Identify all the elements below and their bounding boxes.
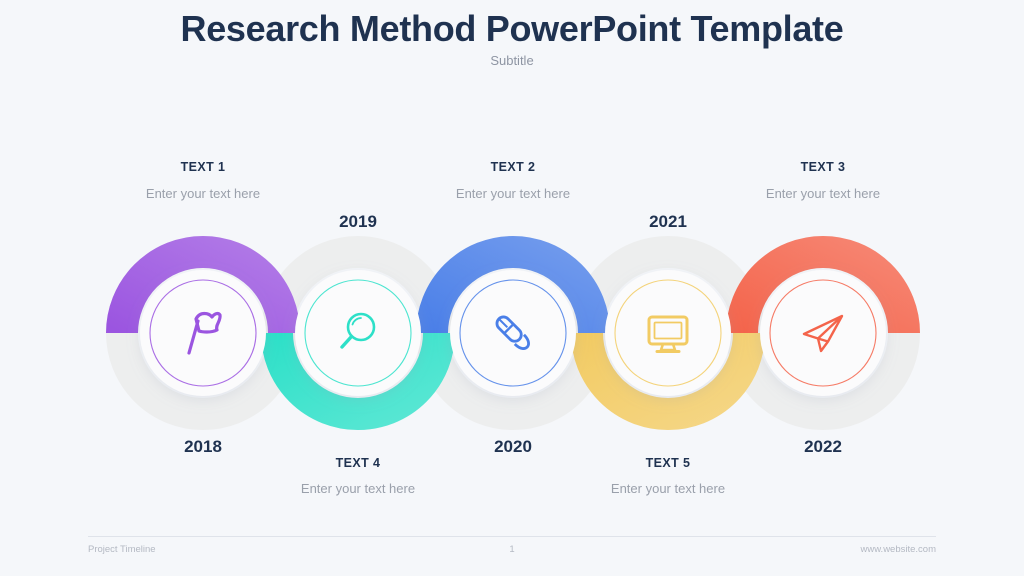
timeline-diagram <box>0 0 1024 576</box>
timeline-step-year: 2019 <box>298 212 418 232</box>
timeline-node-disc[interactable] <box>605 270 731 396</box>
timeline-node-disc[interactable] <box>450 270 576 396</box>
timeline-node-disc[interactable] <box>295 270 421 396</box>
timeline-step-year: 2018 <box>143 437 263 457</box>
timeline-step-caption: TEXT 2 <box>393 160 633 174</box>
timeline-step-year: 2020 <box>453 437 573 457</box>
footer-divider <box>88 536 936 537</box>
timeline-step-caption: TEXT 4 <box>238 456 478 470</box>
footer-website: www.website.com <box>861 544 937 555</box>
timeline-step-caption: TEXT 5 <box>548 456 788 470</box>
timeline-step-description: Enter your text here <box>548 481 788 496</box>
timeline-step-caption: TEXT 3 <box>703 160 943 174</box>
timeline-step-description: Enter your text here <box>238 481 478 496</box>
timeline-step-caption: TEXT 1 <box>83 160 323 174</box>
timeline-step-description: Enter your text here <box>83 186 323 201</box>
timeline-step-description: Enter your text here <box>393 186 633 201</box>
timeline-step-year: 2021 <box>608 212 728 232</box>
timeline-step-description: Enter your text here <box>703 186 943 201</box>
timeline-step-year: 2022 <box>763 437 883 457</box>
